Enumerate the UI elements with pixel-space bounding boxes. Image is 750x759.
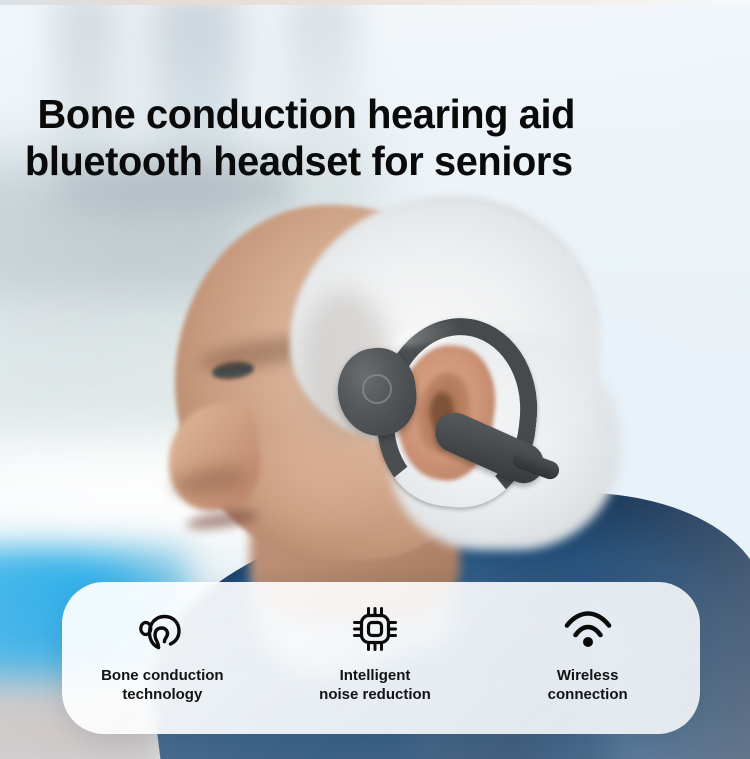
headline-line-1: Bone conduction hearing aid [22, 91, 707, 138]
feature-card: Bone conduction technology [62, 582, 700, 734]
product-banner: Bone conduction hearing aid bluetooth he… [0, 0, 750, 759]
feature-label: Wireless connection [548, 666, 628, 704]
feature-label: Bone conduction technology [101, 666, 224, 704]
feature-item-bone-conduction[interactable]: Bone conduction technology [56, 582, 269, 704]
ear-sound-icon [138, 603, 186, 655]
top-edge-strip [0, 0, 750, 5]
wifi-icon [563, 603, 613, 655]
feature-item-noise-reduction[interactable]: Intelligent noise reduction [269, 582, 482, 704]
headset-button [362, 374, 392, 404]
feature-item-wireless[interactable]: Wireless connection [481, 582, 694, 704]
chip-icon [351, 603, 399, 655]
feature-label: Intelligent noise reduction [319, 666, 431, 704]
headline-line-2: bluetooth headset for seniors [22, 138, 707, 185]
page-title: Bone conduction hearing aid bluetooth he… [22, 91, 707, 185]
